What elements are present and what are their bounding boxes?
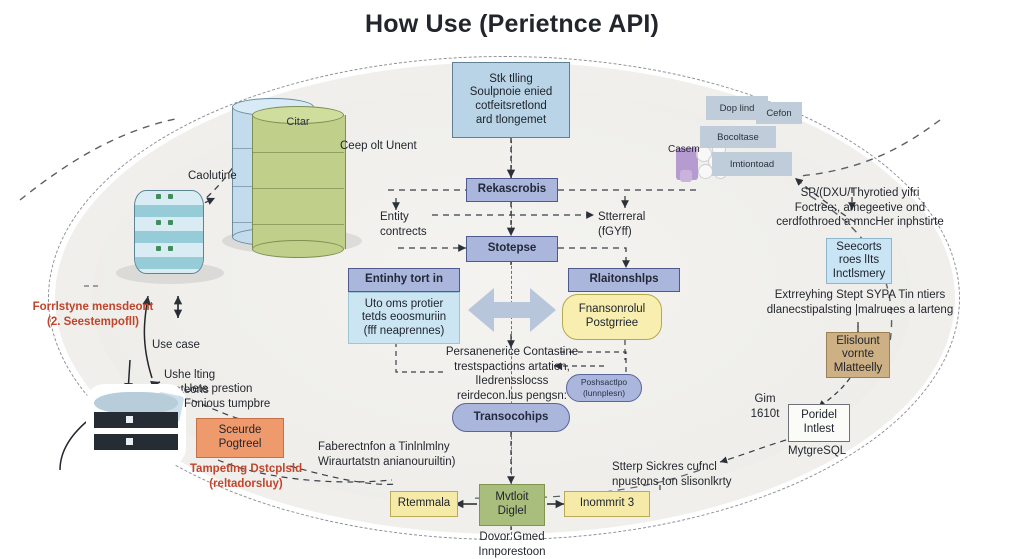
node-elislount-box[interactable]: Elislount vornte Mlatteelly — [826, 332, 890, 378]
node-relationships-header-label: Rlaitonshlps — [589, 273, 658, 287]
node-bottom-left-box[interactable]: Rtemmala — [390, 491, 458, 517]
node-entity-body-label: Uto oms protier tetds eoosmuriin (fff ne… — [362, 298, 446, 339]
node-secure-box[interactable]: Sceurde Pogtreel — [196, 418, 284, 458]
label-use-case: Use case — [152, 338, 200, 353]
node-entity-body[interactable]: Uto oms protier tetds eoosmuriin (fff ne… — [348, 292, 460, 344]
node-storage-label: Stotepse — [488, 242, 537, 256]
node-bottom-center-box-label: Mvtloit Diglel — [495, 491, 528, 518]
node-relations-label: Rekascrobis — [478, 183, 546, 197]
cylinder-label-citar: Citar — [252, 116, 344, 128]
node-relations[interactable]: Rekascrobis — [466, 178, 558, 202]
block-arrow-right — [530, 288, 556, 332]
node-top-box[interactable]: Stk tlling Soulpnoie enied cotfeitsretlo… — [452, 62, 570, 138]
block-arrow-right-stem — [512, 302, 530, 318]
label-ceep-olt-unent: Ceep olt Unent — [340, 139, 417, 154]
node-bottom-right-box[interactable]: Inommrit 3 — [564, 491, 650, 517]
block-dop-lind-label: Dop lind — [720, 103, 755, 114]
node-bottom-right-box-label: Inommrit 3 — [580, 497, 634, 511]
node-bottom-left-box-label: Rtemmala — [398, 497, 450, 511]
server-icon — [94, 392, 178, 458]
label-forrlstyne: Forrlstyne mensdeont (2. Seestempofll) — [8, 300, 178, 329]
label-mytgresql: MytgreSQL — [788, 444, 846, 459]
block-bocoltase[interactable]: Bocoltase — [700, 126, 776, 148]
block-imtiontoad-label: Imtiontoad — [730, 159, 774, 170]
node-postgres-pill[interactable]: Fnansonrolul Postgrriee — [562, 294, 662, 340]
label-gim: Gim 1610t — [744, 392, 786, 421]
node-postgres-pill-label: Fnansonrolul Postgrriee — [579, 303, 645, 330]
label-caolutine: Caolutine — [188, 169, 237, 184]
node-poridel-note-label: Poridel Intlest — [801, 409, 837, 436]
label-bottom-caption: Dovor Gmed Innporestoon — [452, 530, 572, 559]
node-relationships-header[interactable]: Rlaitonshlps — [568, 268, 680, 292]
database-cylinder-green: Citar — [252, 106, 344, 258]
node-seecorts-box[interactable]: Seecorts roes lIts Inctlsmery — [826, 238, 892, 284]
node-seecorts-box-label: Seecorts roes lIts Inctlsmery — [833, 241, 885, 282]
label-tampetlng: Tampetlng Dstcplsld (reltadorsluy) — [168, 462, 324, 491]
node-transactions-pill-label: Transocohips — [474, 411, 549, 425]
label-entity-contracts: Entity contrects — [380, 210, 427, 239]
label-faberectnfon: Faberectnfon a Tinlnlmlny Wiraurtatstn a… — [318, 440, 455, 469]
node-entity-header-label: Entinhy tort in — [365, 273, 443, 287]
block-bocoltase-label: Bocoltase — [717, 132, 759, 143]
block-cefon[interactable]: Cefon — [756, 102, 802, 124]
label-casem: Casem — [668, 144, 700, 157]
node-poshsactlpo[interactable]: Poshsactlpo (lunnplesn) — [566, 374, 642, 402]
label-stterp-sickres: Stterp Sickres cufncl npustons ton sliso… — [612, 460, 732, 489]
label-sp-dxu: SP/(DXU/Thyrotied yifri Foctree:, amegee… — [752, 186, 968, 230]
label-extrreyhing: Extrreyhing Stept SYPA Tin ntiers dlanec… — [744, 288, 976, 317]
node-top-box-label: Stk tlling Soulpnoie enied cotfeitsretlo… — [470, 73, 553, 127]
label-stterreral: Stterreral (fGYff) — [598, 210, 645, 239]
label-uete-prestion: Uete prestion Fonious tumpbre — [184, 382, 270, 411]
block-imtiontoad[interactable]: Imtiontoad — [712, 152, 792, 176]
node-poshsactlpo-label: Poshsactlpo (lunnplesn) — [581, 377, 627, 398]
node-storage[interactable]: Stotepse — [466, 236, 558, 262]
node-entity-header[interactable]: Entinhy tort in — [348, 268, 460, 292]
database-cylinder-striped — [134, 190, 204, 274]
block-cefon-label: Cefon — [766, 108, 791, 119]
node-poridel-note[interactable]: Poridel Intlest — [788, 404, 850, 442]
node-secure-box-label: Sceurde Pogtreel — [219, 424, 262, 451]
block-arrow-left-stem — [494, 302, 512, 318]
block-arrow-left — [468, 288, 494, 332]
node-bottom-center-box[interactable]: Mvtloit Diglel — [479, 484, 545, 526]
node-elislount-box-label: Elislount vornte Mlatteelly — [834, 335, 883, 376]
diagram-canvas: How Use (Perietnce API) — [0, 0, 1024, 559]
node-transactions-pill[interactable]: Transocohips — [452, 403, 570, 432]
